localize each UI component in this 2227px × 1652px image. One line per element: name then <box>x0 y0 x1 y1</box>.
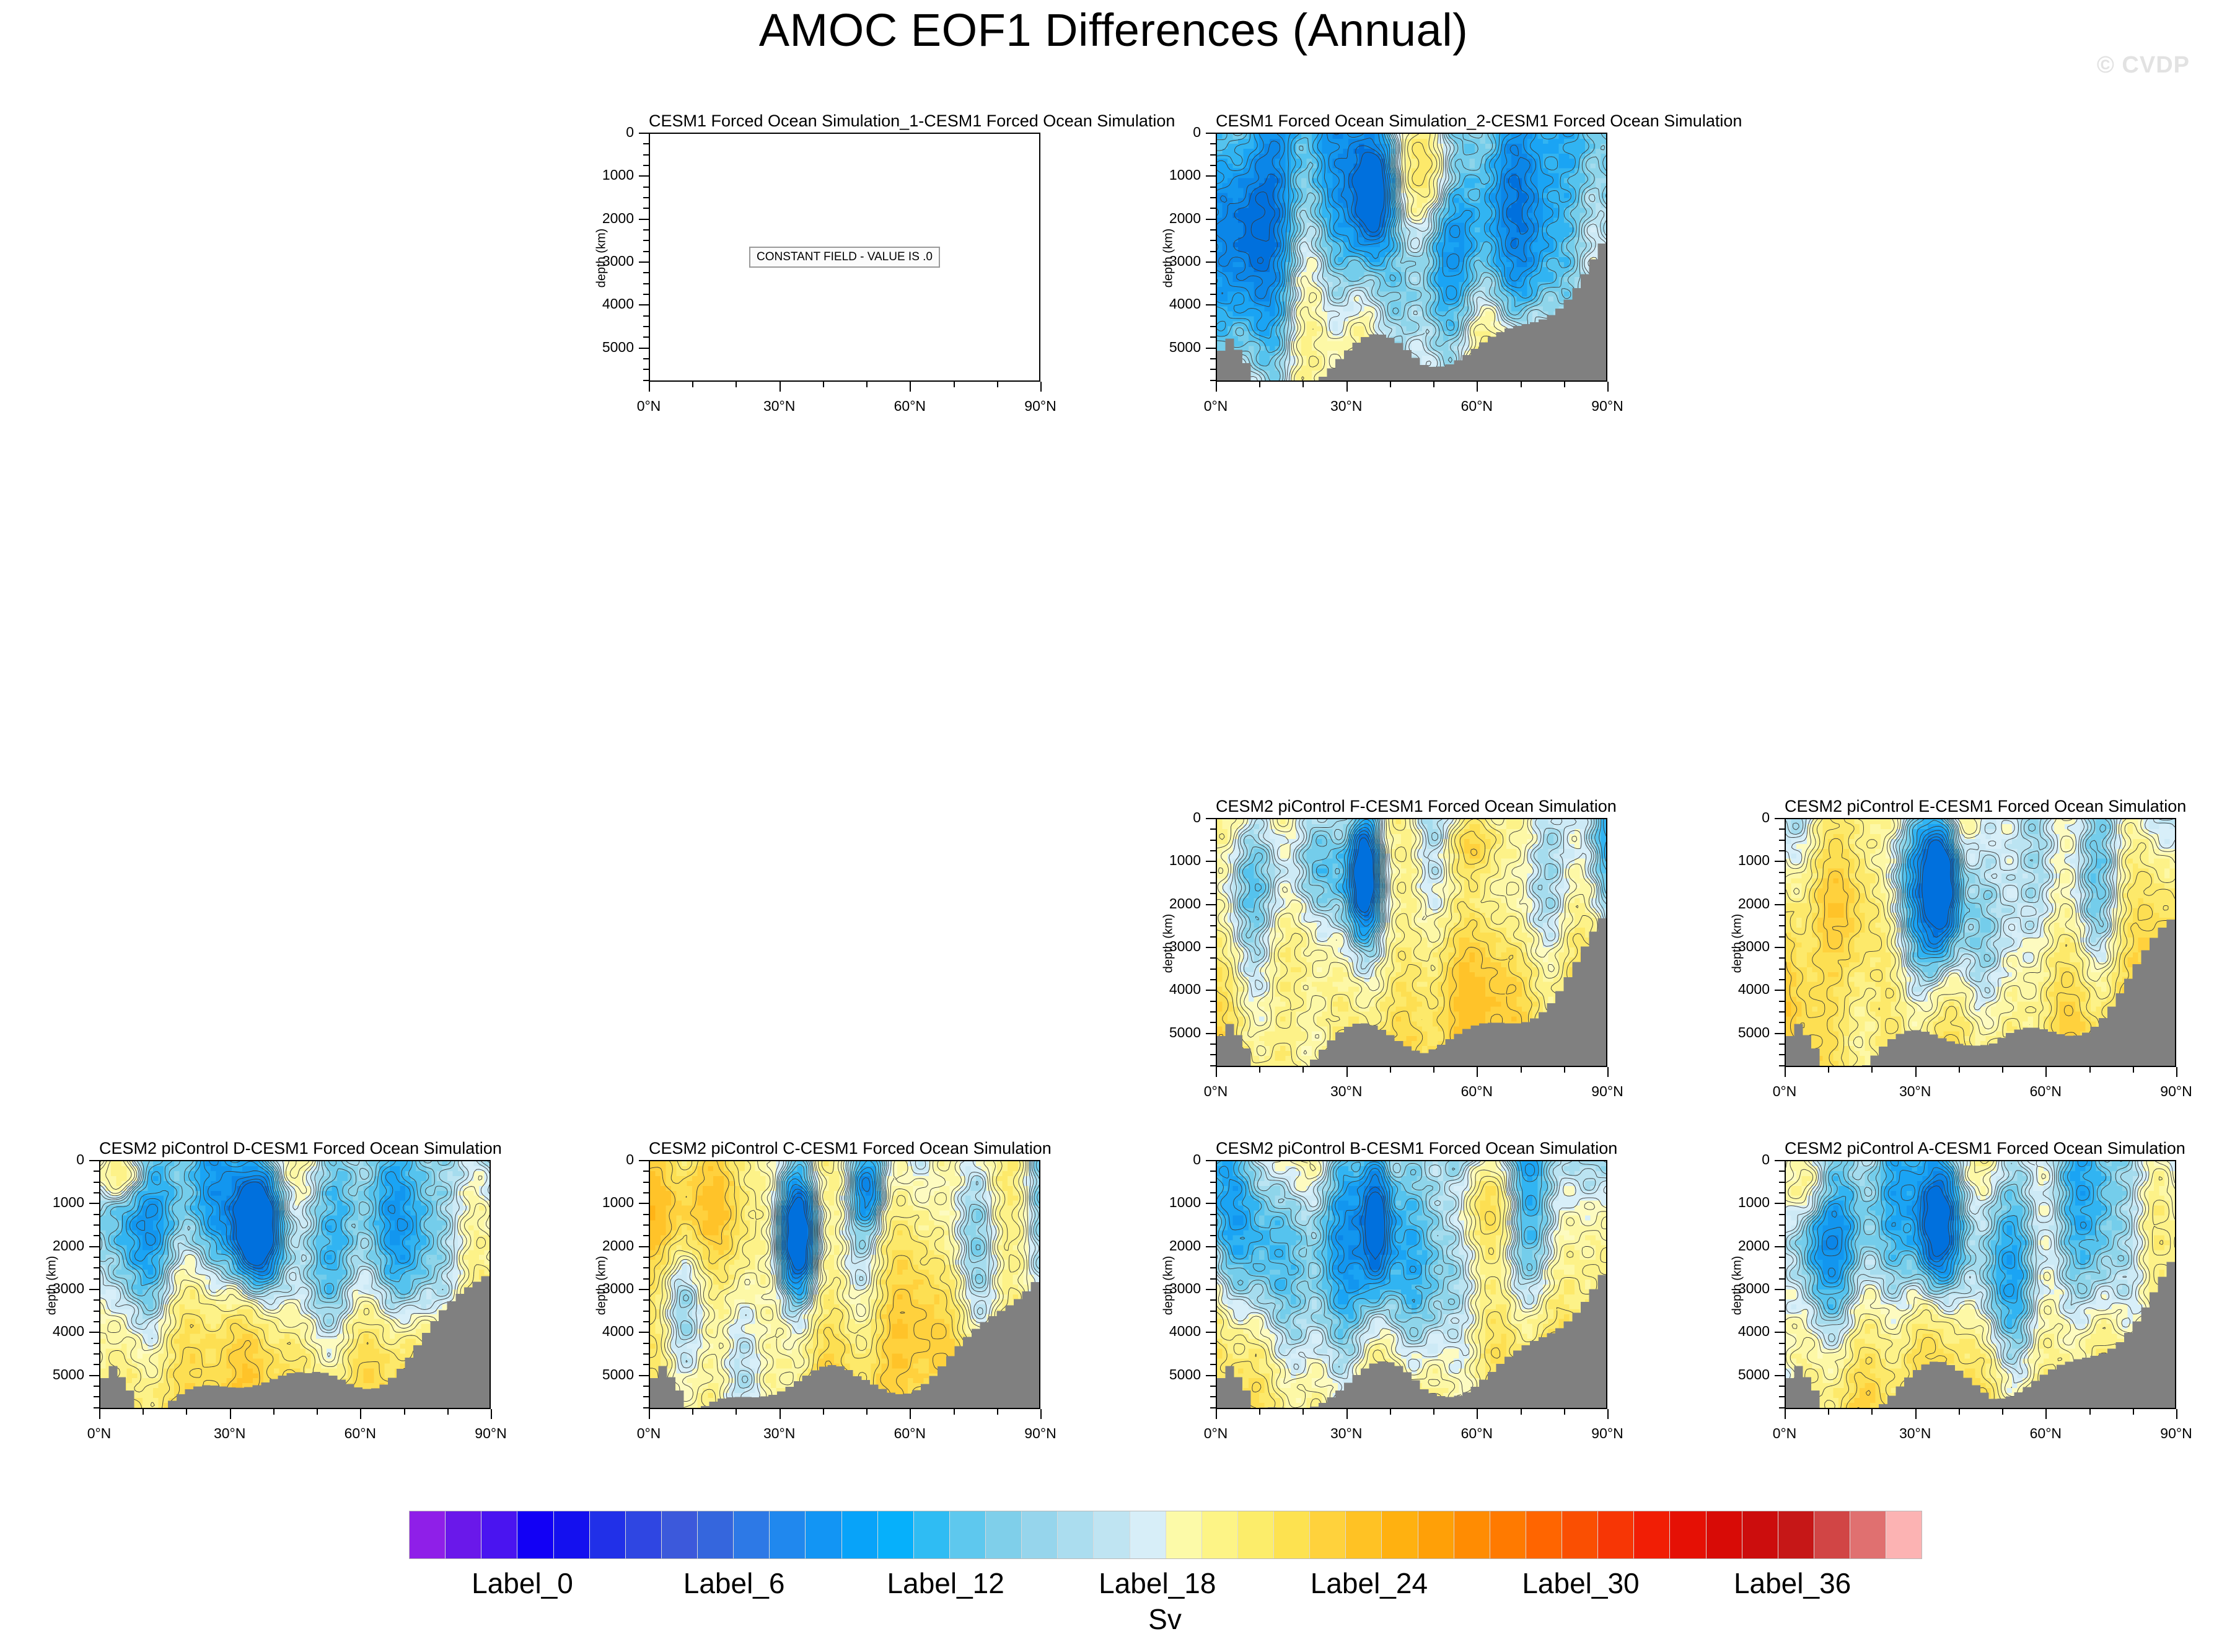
x-tick <box>649 1409 650 1419</box>
y-minor-tick <box>1210 957 1216 959</box>
y-minor-tick <box>1779 1321 1785 1322</box>
y-minor-tick <box>643 197 649 198</box>
panel-title: CESM1 Forced Ocean Simulation_2-CESM1 Fo… <box>1216 112 1607 131</box>
y-tick <box>639 133 649 134</box>
x-minor-tick <box>1302 382 1304 387</box>
y-tick-label: 3000 <box>1704 1280 1770 1297</box>
y-tick-label: 1000 <box>1135 852 1201 869</box>
y-tick-label: 1000 <box>19 1194 84 1211</box>
y-tick <box>1775 1203 1785 1204</box>
y-minor-tick <box>643 1343 649 1344</box>
contour-canvas <box>1786 1161 2175 1408</box>
colorbar-cell <box>1130 1511 1166 1558</box>
panel-title: CESM1 Forced Ocean Simulation_1-CESM1 Fo… <box>649 112 1040 131</box>
colorbar-label: Label_0 <box>472 1566 573 1600</box>
x-tick <box>2045 1409 2047 1419</box>
y-tick <box>1206 904 1216 905</box>
colorbar-cell <box>1850 1511 1886 1558</box>
colorbar[interactable]: Label_0Label_6Label_12Label_18Label_24La… <box>409 1511 1921 1635</box>
y-minor-tick <box>1210 1343 1216 1344</box>
x-minor-tick <box>2089 1409 2091 1415</box>
x-tick-label: 90°N <box>1564 398 1651 415</box>
y-minor-tick <box>1779 1022 1785 1023</box>
x-tick <box>1915 1067 1917 1077</box>
contour-canvas <box>1217 134 1606 380</box>
y-minor-tick <box>643 1182 649 1183</box>
y-tick-label: 3000 <box>19 1280 84 1297</box>
y-minor-tick <box>643 1224 649 1226</box>
y-minor-tick <box>1779 969 1785 970</box>
x-minor-tick <box>1390 382 1391 387</box>
y-tick-label: 5000 <box>568 1366 634 1383</box>
x-minor-tick <box>1564 1067 1565 1073</box>
y-tick <box>89 1332 99 1333</box>
panel-p2: CESM1 Forced Ocean Simulation_2-CESM1 Fo… <box>1135 112 1620 429</box>
colorbar-cell <box>1778 1511 1814 1558</box>
y-tick-label: 2000 <box>1704 1237 1770 1254</box>
colorbar-cell <box>734 1511 770 1558</box>
x-tick-label: 30°N <box>1303 398 1390 415</box>
x-minor-tick <box>1564 382 1565 387</box>
y-tick <box>1775 1033 1785 1034</box>
y-minor-tick <box>94 1235 99 1236</box>
y-tick <box>639 1246 649 1247</box>
colorbar-label: Label_30 <box>1522 1566 1639 1600</box>
colorbar-cell <box>1058 1511 1094 1558</box>
y-minor-tick <box>1210 1001 1216 1002</box>
y-minor-tick <box>94 1321 99 1322</box>
x-minor-tick <box>1390 1067 1391 1073</box>
x-tick-label: 0°N <box>605 398 692 415</box>
y-minor-tick <box>94 1396 99 1397</box>
x-tick <box>2176 1067 2177 1077</box>
y-tick <box>1206 1033 1216 1034</box>
y-tick <box>89 1289 99 1290</box>
x-tick <box>1477 382 1478 392</box>
y-minor-tick <box>94 1353 99 1355</box>
x-minor-tick <box>1521 1409 1522 1415</box>
y-tick-label: 4000 <box>1135 296 1201 312</box>
x-minor-tick <box>1521 1067 1522 1073</box>
x-tick-label: 90°N <box>2133 1425 2220 1442</box>
y-tick-label: 1000 <box>1135 167 1201 183</box>
colorbar-cell <box>1634 1511 1670 1558</box>
y-minor-tick <box>1210 1311 1216 1312</box>
y-minor-tick <box>1779 1407 1785 1408</box>
y-tick <box>1775 1289 1785 1290</box>
y-tick <box>639 261 649 263</box>
x-tick <box>230 1409 231 1419</box>
y-minor-tick <box>1210 315 1216 317</box>
y-minor-tick <box>1779 936 1785 938</box>
plot-area[interactable] <box>1216 133 1607 382</box>
y-minor-tick <box>1779 828 1785 830</box>
y-minor-tick <box>1210 251 1216 252</box>
x-tick <box>910 382 911 392</box>
y-minor-tick <box>1210 828 1216 830</box>
x-minor-tick <box>447 1409 449 1415</box>
y-tick <box>1206 261 1216 263</box>
plot-area[interactable] <box>649 1160 1040 1409</box>
y-tick-label: 3000 <box>1135 938 1201 955</box>
y-minor-tick <box>1210 969 1216 970</box>
plot-area[interactable] <box>1216 818 1607 1067</box>
x-tick <box>780 382 781 392</box>
x-tick-label: 30°N <box>736 398 823 415</box>
y-minor-tick <box>1779 1364 1785 1365</box>
y-tick-label: 2000 <box>1704 895 1770 912</box>
y-minor-tick <box>1779 1343 1785 1344</box>
x-tick <box>1216 1067 1217 1077</box>
x-minor-tick <box>1564 1409 1565 1415</box>
y-minor-tick <box>1210 187 1216 188</box>
y-tick-label: 5000 <box>1135 1366 1201 1383</box>
x-tick <box>1346 1067 1348 1077</box>
y-minor-tick <box>94 1386 99 1387</box>
x-minor-tick <box>186 1409 187 1415</box>
y-tick-label: 0 <box>1135 124 1201 141</box>
plot-area[interactable] <box>1216 1160 1607 1409</box>
y-minor-tick <box>643 1192 649 1193</box>
y-minor-tick <box>1779 1011 1785 1013</box>
colorbar-cell <box>1202 1511 1238 1558</box>
x-tick-label: 0°N <box>1741 1425 1828 1442</box>
y-minor-tick <box>94 1278 99 1280</box>
y-minor-tick <box>1779 1278 1785 1280</box>
y-tick-label: 3000 <box>568 1280 634 1297</box>
y-tick <box>1206 861 1216 862</box>
y-minor-tick <box>1210 936 1216 938</box>
x-tick-label: 30°N <box>1872 1425 1959 1442</box>
plot-area[interactable] <box>99 1160 491 1409</box>
y-tick <box>1775 904 1785 905</box>
x-minor-tick <box>317 1409 318 1415</box>
y-minor-tick <box>643 1214 649 1215</box>
x-minor-tick <box>1828 1067 1829 1073</box>
y-minor-tick <box>1210 1353 1216 1355</box>
y-minor-tick <box>94 1182 99 1183</box>
plot-area[interactable] <box>1785 818 2176 1067</box>
y-tick-label: 2000 <box>1135 895 1201 912</box>
x-tick <box>1915 1409 1917 1419</box>
y-tick-label: 3000 <box>1135 253 1201 270</box>
contour-field <box>1217 819 1606 1066</box>
y-minor-tick <box>1210 840 1216 841</box>
y-tick-label: 4000 <box>568 1323 634 1340</box>
y-minor-tick <box>643 380 649 381</box>
y-tick <box>1775 990 1785 991</box>
x-minor-tick <box>1302 1409 1304 1415</box>
y-minor-tick <box>643 1299 649 1301</box>
y-tick <box>1775 947 1785 948</box>
y-tick <box>639 1203 649 1204</box>
x-minor-tick <box>1390 1409 1391 1415</box>
colorbar-cell <box>1454 1511 1490 1558</box>
y-minor-tick <box>643 1396 649 1397</box>
colorbar-label: Label_12 <box>887 1566 1004 1600</box>
x-minor-tick <box>143 1409 144 1415</box>
colorbar-strip[interactable] <box>409 1511 1922 1559</box>
x-tick-label: 90°N <box>1564 1425 1651 1442</box>
colorbar-cell <box>517 1511 553 1558</box>
x-tick-label: 60°N <box>1433 398 1520 415</box>
y-minor-tick <box>1779 1171 1785 1172</box>
y-minor-tick <box>1210 380 1216 381</box>
y-tick <box>1206 1375 1216 1376</box>
y-tick-label: 0 <box>1704 1151 1770 1168</box>
y-minor-tick <box>643 358 649 359</box>
y-tick <box>89 1375 99 1376</box>
x-tick <box>1216 1409 1217 1419</box>
y-tick-label: 0 <box>1704 809 1770 826</box>
x-tick <box>780 1409 781 1419</box>
x-minor-tick <box>866 382 868 387</box>
x-minor-tick <box>1959 1409 1960 1415</box>
y-minor-tick <box>643 1278 649 1280</box>
y-minor-tick <box>1210 1235 1216 1236</box>
page-title: AMOC EOF1 Differences (Annual) <box>0 4 2227 56</box>
y-minor-tick <box>1210 358 1216 359</box>
x-minor-tick <box>1259 1409 1260 1415</box>
y-minor-tick <box>643 326 649 327</box>
panel-title: CESM2 piControl A-CESM1 Forced Ocean Sim… <box>1785 1139 2176 1158</box>
y-tick-label: 3000 <box>568 253 634 270</box>
colorbar-cell <box>1022 1511 1058 1558</box>
colorbar-cell <box>1382 1511 1418 1558</box>
colorbar-label: Label_6 <box>683 1566 785 1600</box>
x-tick <box>649 382 650 392</box>
colorbar-cell <box>1490 1511 1526 1558</box>
y-minor-tick <box>643 165 649 166</box>
y-minor-tick <box>1779 1299 1785 1301</box>
y-minor-tick <box>1210 1043 1216 1045</box>
y-tick-label: 4000 <box>1135 1323 1201 1340</box>
colorbar-label: Label_36 <box>1734 1566 1851 1600</box>
contour-field <box>1217 1161 1606 1408</box>
plot-area[interactable] <box>1785 1160 2176 1409</box>
x-minor-tick <box>997 1409 998 1415</box>
colorbar-cell <box>770 1511 806 1558</box>
y-minor-tick <box>643 283 649 284</box>
y-minor-tick <box>643 1267 649 1268</box>
panel-p7: CESM2 piControl B-CESM1 Forced Ocean Sim… <box>1135 1139 1620 1456</box>
contour-field <box>1217 134 1606 380</box>
y-minor-tick <box>643 143 649 144</box>
x-minor-tick <box>1433 1067 1434 1073</box>
y-tick <box>89 1246 99 1247</box>
y-minor-tick <box>643 154 649 156</box>
colorbar-cell <box>950 1511 986 1558</box>
y-tick-label: 0 <box>568 124 634 141</box>
y-tick <box>639 219 649 220</box>
x-tick <box>360 1409 361 1419</box>
x-minor-tick <box>404 1409 405 1415</box>
x-tick <box>1040 382 1042 392</box>
y-tick-label: 0 <box>1135 809 1201 826</box>
y-minor-tick <box>643 1311 649 1312</box>
x-tick <box>1607 1409 1609 1419</box>
y-minor-tick <box>94 1171 99 1172</box>
colorbar-cell <box>1526 1511 1562 1558</box>
y-minor-tick <box>1210 1321 1216 1322</box>
x-tick-label: 60°N <box>866 1425 953 1442</box>
y-minor-tick <box>1779 893 1785 894</box>
colorbar-cell <box>1310 1511 1346 1558</box>
panel-title: CESM2 piControl B-CESM1 Forced Ocean Sim… <box>1216 1139 1607 1158</box>
x-tick <box>1346 1409 1348 1419</box>
colorbar-cell <box>1238 1511 1274 1558</box>
colorbar-cell <box>1886 1511 1922 1558</box>
colorbar-cell <box>481 1511 517 1558</box>
y-minor-tick <box>1779 1311 1785 1312</box>
y-tick <box>1206 219 1216 220</box>
x-tick <box>1607 382 1609 392</box>
y-tick <box>1775 1375 1785 1376</box>
y-tick-label: 1000 <box>568 167 634 183</box>
y-minor-tick <box>1779 1353 1785 1355</box>
y-minor-tick <box>94 1267 99 1268</box>
x-tick-label: 60°N <box>866 398 953 415</box>
x-minor-tick <box>1259 382 1260 387</box>
y-tick-label: 1000 <box>1135 1194 1201 1211</box>
y-minor-tick <box>1779 979 1785 980</box>
y-tick-label: 1000 <box>1704 852 1770 869</box>
y-tick <box>1206 990 1216 991</box>
cvdp-watermark: © CVDP <box>2097 52 2190 79</box>
x-tick-label: 60°N <box>317 1425 403 1442</box>
y-minor-tick <box>94 1299 99 1301</box>
y-tick <box>1775 1160 1785 1161</box>
x-minor-tick <box>1521 382 1522 387</box>
y-tick <box>1206 947 1216 948</box>
y-minor-tick <box>1210 326 1216 327</box>
colorbar-cell <box>878 1511 914 1558</box>
y-tick <box>1206 1332 1216 1333</box>
x-minor-tick <box>1959 1067 1960 1073</box>
colorbar-cell <box>590 1511 626 1558</box>
x-tick-label: 0°N <box>56 1425 143 1442</box>
x-minor-tick <box>1302 1067 1304 1073</box>
colorbar-cell <box>1274 1511 1310 1558</box>
contour-canvas <box>650 1161 1039 1408</box>
y-minor-tick <box>1210 229 1216 231</box>
colorbar-cell <box>806 1511 841 1558</box>
y-minor-tick <box>1210 925 1216 926</box>
y-tick <box>1775 818 1785 819</box>
y-minor-tick <box>94 1214 99 1215</box>
y-minor-tick <box>1779 1235 1785 1236</box>
y-minor-tick <box>1210 1214 1216 1215</box>
panel-p6: CESM2 piControl C-CESM1 Forced Ocean Sim… <box>568 1139 1053 1456</box>
y-minor-tick <box>643 1257 649 1258</box>
x-tick-label: 60°N <box>1433 1425 1520 1442</box>
y-tick <box>1206 133 1216 134</box>
x-minor-tick <box>736 1409 737 1415</box>
x-minor-tick <box>1433 1409 1434 1415</box>
colorbar-cell <box>1562 1511 1598 1558</box>
y-minor-tick <box>1210 1182 1216 1183</box>
x-tick-label: 30°N <box>736 1425 823 1442</box>
colorbar-cell <box>1814 1511 1850 1558</box>
panel-title: CESM2 piControl D-CESM1 Forced Ocean Sim… <box>99 1139 491 1158</box>
y-tick-label: 5000 <box>1704 1366 1770 1383</box>
y-minor-tick <box>1210 208 1216 209</box>
y-minor-tick <box>1210 1267 1216 1268</box>
colorbar-cell <box>410 1511 446 1558</box>
y-minor-tick <box>94 1257 99 1258</box>
y-minor-tick <box>94 1192 99 1193</box>
y-tick <box>1775 1332 1785 1333</box>
y-minor-tick <box>1210 369 1216 370</box>
y-minor-tick <box>643 1407 649 1408</box>
contour-canvas <box>1786 819 2175 1066</box>
x-tick-label: 90°N <box>2133 1083 2220 1100</box>
y-tick <box>1775 1246 1785 1247</box>
y-minor-tick <box>1210 1386 1216 1387</box>
y-tick-label: 0 <box>19 1151 84 1168</box>
y-minor-tick <box>1210 1054 1216 1055</box>
colorbar-cell <box>1742 1511 1778 1558</box>
x-tick <box>910 1409 911 1419</box>
panel-p4: CESM2 piControl E-CESM1 Forced Ocean Sim… <box>1704 797 2189 1114</box>
x-tick <box>1216 382 1217 392</box>
y-tick-label: 2000 <box>568 1237 634 1254</box>
y-minor-tick <box>1210 294 1216 295</box>
y-minor-tick <box>643 1353 649 1355</box>
y-minor-tick <box>643 1235 649 1236</box>
contour-field <box>1786 1161 2175 1408</box>
y-minor-tick <box>1210 1396 1216 1397</box>
x-tick <box>1607 1067 1609 1077</box>
y-minor-tick <box>1779 925 1785 926</box>
y-minor-tick <box>1779 1182 1785 1183</box>
panel-title: CESM2 piControl C-CESM1 Forced Ocean Sim… <box>649 1139 1040 1158</box>
x-tick <box>99 1409 100 1419</box>
y-minor-tick <box>1210 240 1216 241</box>
x-minor-tick <box>954 382 955 387</box>
y-tick-label: 1000 <box>568 1194 634 1211</box>
y-tick <box>639 1289 649 1290</box>
x-tick <box>1040 1409 1042 1419</box>
y-tick <box>639 1332 649 1333</box>
x-tick <box>2176 1409 2177 1419</box>
y-minor-tick <box>94 1407 99 1408</box>
y-minor-tick <box>643 1386 649 1387</box>
y-minor-tick <box>643 294 649 295</box>
x-minor-tick <box>954 1409 955 1415</box>
colorbar-cell <box>626 1511 662 1558</box>
x-minor-tick <box>2133 1067 2134 1073</box>
y-tick <box>1206 304 1216 305</box>
x-tick-label: 30°N <box>187 1425 273 1442</box>
y-tick-label: 5000 <box>568 339 634 356</box>
y-minor-tick <box>643 369 649 370</box>
y-minor-tick <box>1779 840 1785 841</box>
y-tick-label: 1000 <box>1704 1194 1770 1211</box>
colorbar-cell <box>446 1511 481 1558</box>
y-minor-tick <box>643 251 649 252</box>
y-minor-tick <box>1210 882 1216 884</box>
y-minor-tick <box>1779 1043 1785 1045</box>
x-tick-label: 60°N <box>2002 1425 2089 1442</box>
colorbar-cell <box>1598 1511 1634 1558</box>
x-tick-label: 60°N <box>2002 1083 2089 1100</box>
panel-p5: CESM2 piControl D-CESM1 Forced Ocean Sim… <box>19 1139 503 1456</box>
plot-area[interactable]: CONSTANT FIELD - VALUE IS .0 <box>649 133 1040 382</box>
contour-canvas <box>1217 819 1606 1066</box>
y-minor-tick <box>1210 915 1216 916</box>
y-tick <box>89 1160 99 1161</box>
